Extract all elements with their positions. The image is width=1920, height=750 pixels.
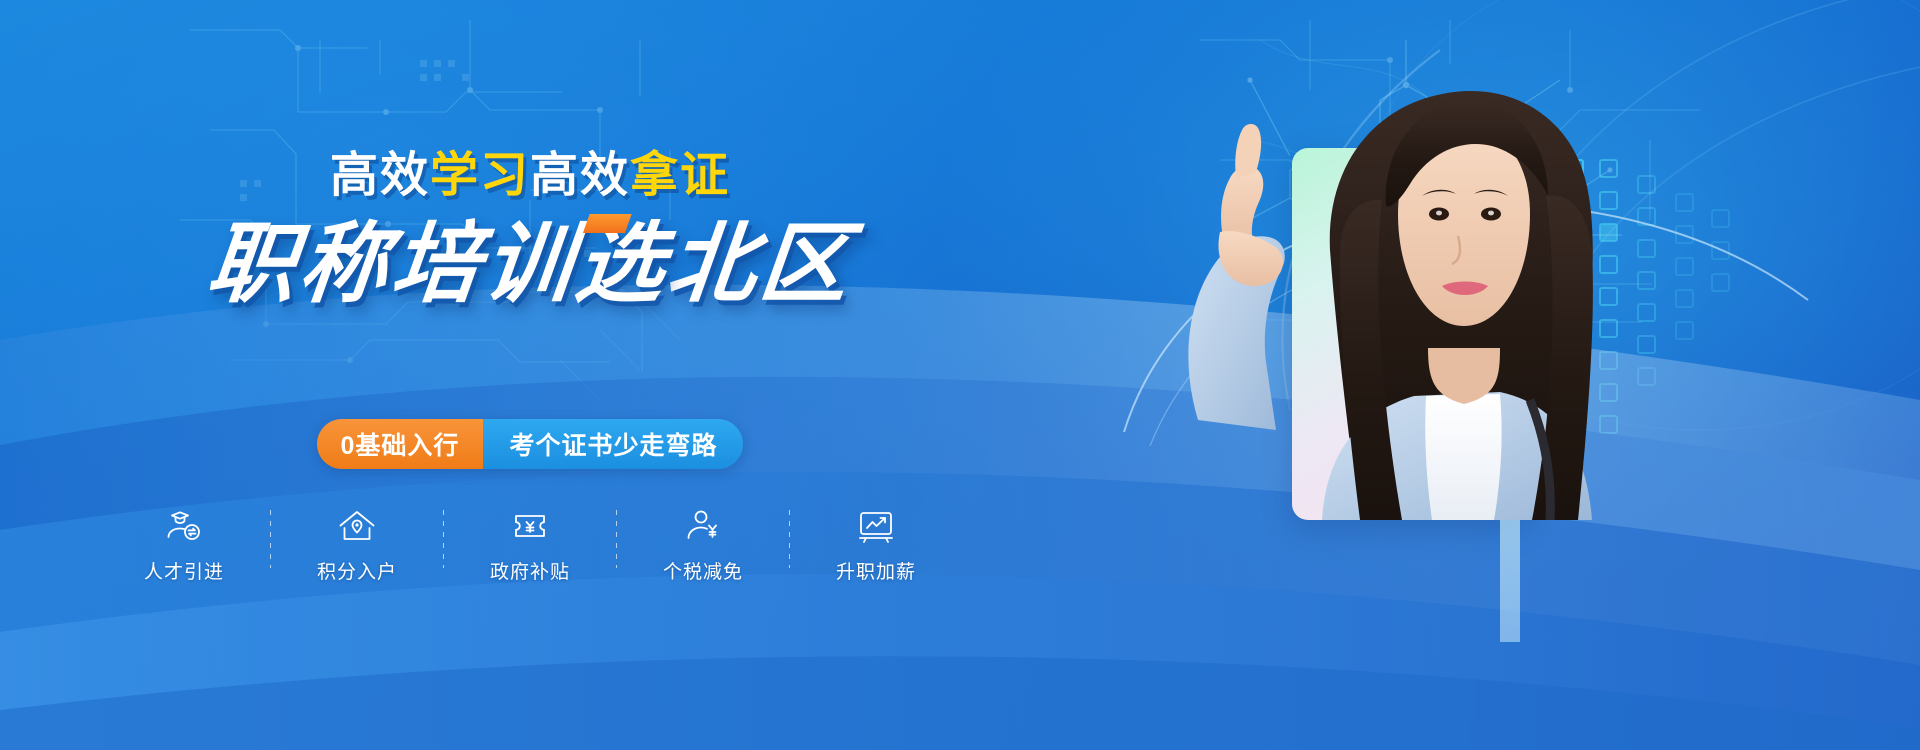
feature-label: 个税减免 xyxy=(663,557,743,584)
headline-main-before: 职称培训 xyxy=(203,214,581,313)
headline-top-part-2: 学习 xyxy=(430,149,530,202)
banner-content: 高效学习高效拿证 职称培训选北区 0基础入行 考个证书少走弯路 人才引进 xyxy=(0,0,1060,750)
graduate-exchange-icon xyxy=(164,506,204,546)
feature-label: 积分入户 xyxy=(317,557,397,584)
chart-board-up-icon xyxy=(856,506,896,546)
person-yuan-icon xyxy=(683,506,723,546)
badge-shell: 0基础入行 考个证书少走弯路 xyxy=(317,419,744,469)
badge-row: 0基础入行 考个证书少走弯路 xyxy=(0,419,1060,469)
coupon-yuan-icon xyxy=(510,506,550,546)
headline-top-part-4: 拿证 xyxy=(630,149,730,202)
headline-top: 高效学习高效拿证 xyxy=(0,152,1060,200)
hero-imagery xyxy=(1030,0,1920,750)
feature-item-talent-intro[interactable]: 人才引进 xyxy=(125,506,243,584)
feature-divider xyxy=(443,510,444,568)
feature-label: 政府补贴 xyxy=(490,557,570,584)
headline-main-after: 北区 xyxy=(663,214,857,313)
feature-item-tax-relief[interactable]: 个税减免 xyxy=(644,506,762,584)
house-pin-icon xyxy=(337,506,377,546)
promo-banner: 高效学习高效拿证 职称培训选北区 0基础入行 考个证书少走弯路 人才引进 xyxy=(0,0,1920,750)
feature-list: 人才引进 积分入户 政府补贴 xyxy=(0,506,1060,584)
headline-main-accent-wrap: 选 xyxy=(571,218,673,310)
woman-pointing-up-photo xyxy=(1030,0,1920,750)
feature-label: 人才引进 xyxy=(144,557,224,584)
feature-label: 升职加薪 xyxy=(836,557,916,584)
feature-divider xyxy=(616,510,617,568)
feature-item-promotion-raise[interactable]: 升职加薪 xyxy=(817,506,935,584)
feature-divider xyxy=(789,510,790,568)
headline-top-part-3: 高效 xyxy=(530,149,630,202)
feature-item-gov-subsidy[interactable]: 政府补贴 xyxy=(471,506,589,584)
feature-item-points-residency[interactable]: 积分入户 xyxy=(298,506,416,584)
headline-main: 职称培训选北区 xyxy=(0,218,1065,310)
badge-right: 考个证书少走弯路 xyxy=(483,419,743,469)
orange-accent-bar xyxy=(583,214,632,233)
badge-left: 0基础入行 xyxy=(317,419,484,469)
feature-divider xyxy=(270,510,271,568)
headline-top-part-1: 高效 xyxy=(330,149,430,202)
